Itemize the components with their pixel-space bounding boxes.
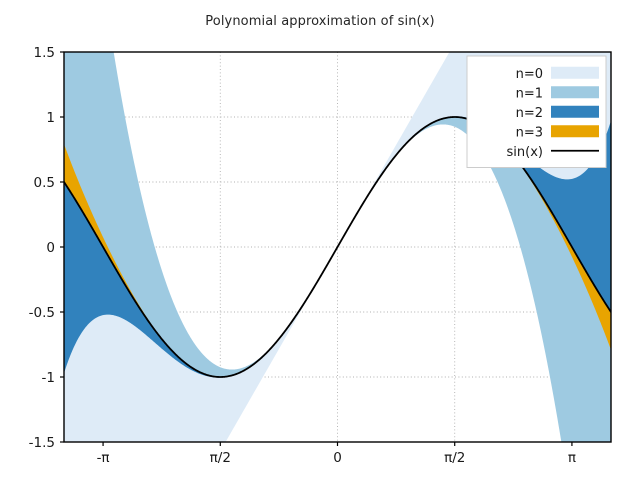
chart-legend[interactable]: n=0n=1n=2n=3sin(x) bbox=[467, 56, 606, 168]
y-tick-label-2: -0.5 bbox=[29, 305, 55, 321]
x-tick-label-3: π/2 bbox=[444, 450, 465, 466]
legend-label-n2: n=2 bbox=[516, 106, 543, 121]
y-tick-label-5: 1 bbox=[46, 110, 55, 126]
x-tick-label-0: -π bbox=[97, 450, 110, 466]
y-tick-label-1: -1 bbox=[42, 370, 55, 386]
chart-figure: Polynomial approximation of sin(x) -ππ/2… bbox=[0, 0, 640, 480]
legend-swatch-n0 bbox=[551, 67, 599, 79]
x-axis-ticks: -ππ/20π/2π bbox=[97, 442, 576, 466]
y-tick-label-3: 0 bbox=[46, 240, 55, 256]
legend-label-sinx: sin(x) bbox=[507, 145, 543, 160]
legend-label-n0: n=0 bbox=[516, 67, 543, 82]
legend-swatch-n1 bbox=[551, 86, 599, 98]
legend-label-n3: n=3 bbox=[516, 125, 543, 140]
legend-swatch-n2 bbox=[551, 106, 599, 118]
plot-canvas: -ππ/20π/2π -1.5-1-0.500.511.5 n=0n=1n=2n… bbox=[0, 0, 640, 480]
x-tick-label-4: π bbox=[568, 450, 576, 466]
legend-swatch-n3 bbox=[551, 125, 599, 137]
y-axis-ticks: -1.5-1-0.500.511.5 bbox=[29, 45, 64, 451]
y-tick-label-6: 1.5 bbox=[34, 45, 55, 61]
y-tick-label-0: -1.5 bbox=[29, 435, 55, 451]
x-tick-label-2: 0 bbox=[333, 450, 342, 466]
y-tick-label-4: 0.5 bbox=[34, 175, 55, 191]
x-tick-label-1: π/2 bbox=[210, 450, 231, 466]
legend-label-n1: n=1 bbox=[516, 86, 543, 101]
